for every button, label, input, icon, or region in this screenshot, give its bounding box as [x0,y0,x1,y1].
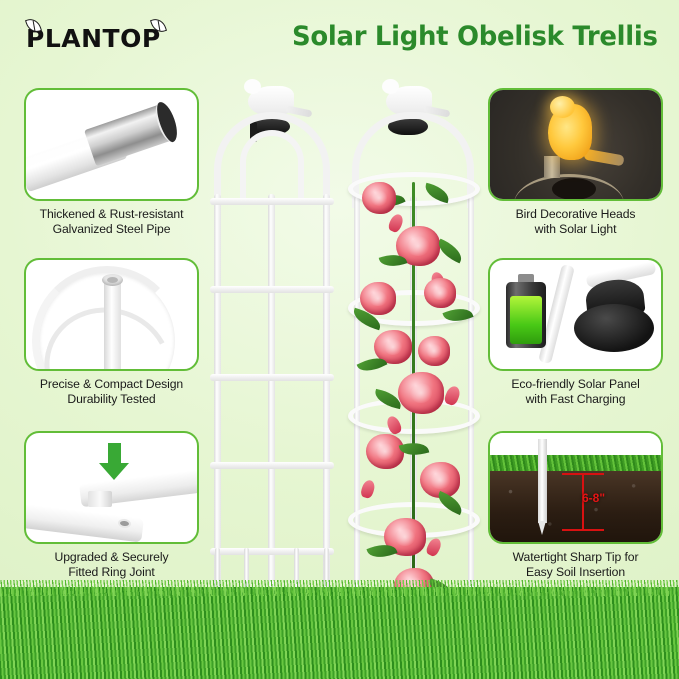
steel-pipe-icon [84,104,174,167]
rose-bloom [360,282,396,315]
feature-caption-line1: Eco-friendly Solar Panel [488,377,663,392]
feature-image-frame [24,88,199,201]
down-arrow-icon [99,463,129,480]
feature-solar-panel[interactable]: Eco-friendly Solar Panel with Fast Charg… [488,258,663,407]
feature-sharp-tip[interactable]: 6-8" Watertight Sharp Tip for Easy Soil … [488,431,663,580]
trellis-rung [210,286,334,293]
sharp-tip-icon [538,521,546,535]
feature-caption: Eco-friendly Solar Panel with Fast Charg… [488,377,663,407]
stake-shaft-icon [538,439,547,523]
feature-caption: Bird Decorative Heads with Solar Light [488,207,663,237]
rose-bloom [418,336,450,366]
grass-layer [490,455,661,471]
feature-caption-line2: with Fast Charging [488,392,663,407]
trellis-rung [210,548,334,555]
rose-bloom [398,372,444,414]
battery-icon [506,282,546,348]
grass-ground [0,587,679,679]
battery-charge-level [510,296,542,344]
rose-bloom [366,434,404,469]
feature-caption-line2: Durability Tested [24,392,199,407]
infographic-canvas: PLANTOP Solar Light Obelisk Trellis [0,0,679,679]
feature-caption: Thickened & Rust-resistant Galvanized St… [24,207,199,237]
ring-joint-tab-icon [88,491,112,507]
feature-ring-joint[interactable]: Upgraded & Securely Fitted Ring Joint [24,431,199,580]
feature-caption: Precise & Compact Design Durability Test… [24,377,199,407]
trellis-rung [210,462,334,469]
soil-cross-section [490,470,661,542]
rose-bud [360,479,377,500]
brand-logo: PLANTOP [26,24,161,53]
rose-bloom [362,182,396,214]
bird-stand-icon [544,156,560,178]
dimension-label: 6-8" [582,491,605,505]
feature-caption: Upgraded & Securely Fitted Ring Joint [24,550,199,580]
trellis-vertical-bar [268,194,275,624]
feature-caption-line1: Bird Decorative Heads [488,207,663,222]
feature-caption-line2: with Solar Light [488,222,663,237]
solar-panel-body-icon [574,304,654,352]
rose-bud [425,536,444,557]
feature-image-frame: 6-8" [488,431,663,544]
trellis-post-icon [104,278,121,371]
dimension-tick [562,529,604,531]
feature-caption-line1: Precise & Compact Design [24,377,199,392]
feature-caption-line2: Fitted Ring Joint [24,565,199,580]
feature-image-frame [488,258,663,371]
page-title: Solar Light Obelisk Trellis [292,21,658,52]
feature-caption-line2: Galvanized Steel Pipe [24,222,199,237]
feature-galvanized-steel-pipe[interactable]: Thickened & Rust-resistant Galvanized St… [24,88,199,237]
solar-panel-puck-icon [552,178,596,200]
post-cap-icon [102,274,123,286]
feature-image-frame [488,88,663,201]
feature-image-frame [24,431,199,544]
feature-caption-line2: Easy Soil Insertion [488,565,663,580]
feature-bird-solar-light[interactable]: Bird Decorative Heads with Solar Light [488,88,663,237]
header: PLANTOP Solar Light Obelisk Trellis [0,0,679,72]
rose-bloom [424,278,456,308]
bird-topper-head-icon [244,79,261,94]
trellis-rung [210,374,334,381]
trellis-dome-inner-frame [240,130,304,200]
feature-caption-line1: Watertight Sharp Tip for [488,550,663,565]
bird-topper-head-icon [382,79,399,94]
feature-caption-line1: Thickened & Rust-resistant [24,207,199,222]
glowing-bird-head-icon [550,96,575,118]
down-arrow-icon [108,443,121,465]
feature-caption-line1: Upgraded & Securely [24,550,199,565]
feature-image-frame [24,258,199,371]
feature-precise-compact-design[interactable]: Precise & Compact Design Durability Test… [24,258,199,407]
trellis-rung [210,198,334,205]
feature-caption: Watertight Sharp Tip for Easy Soil Inser… [488,550,663,580]
round-obelisk-trellis [340,86,490,626]
battery-terminal-icon [518,274,534,282]
square-obelisk-trellis [206,86,338,626]
